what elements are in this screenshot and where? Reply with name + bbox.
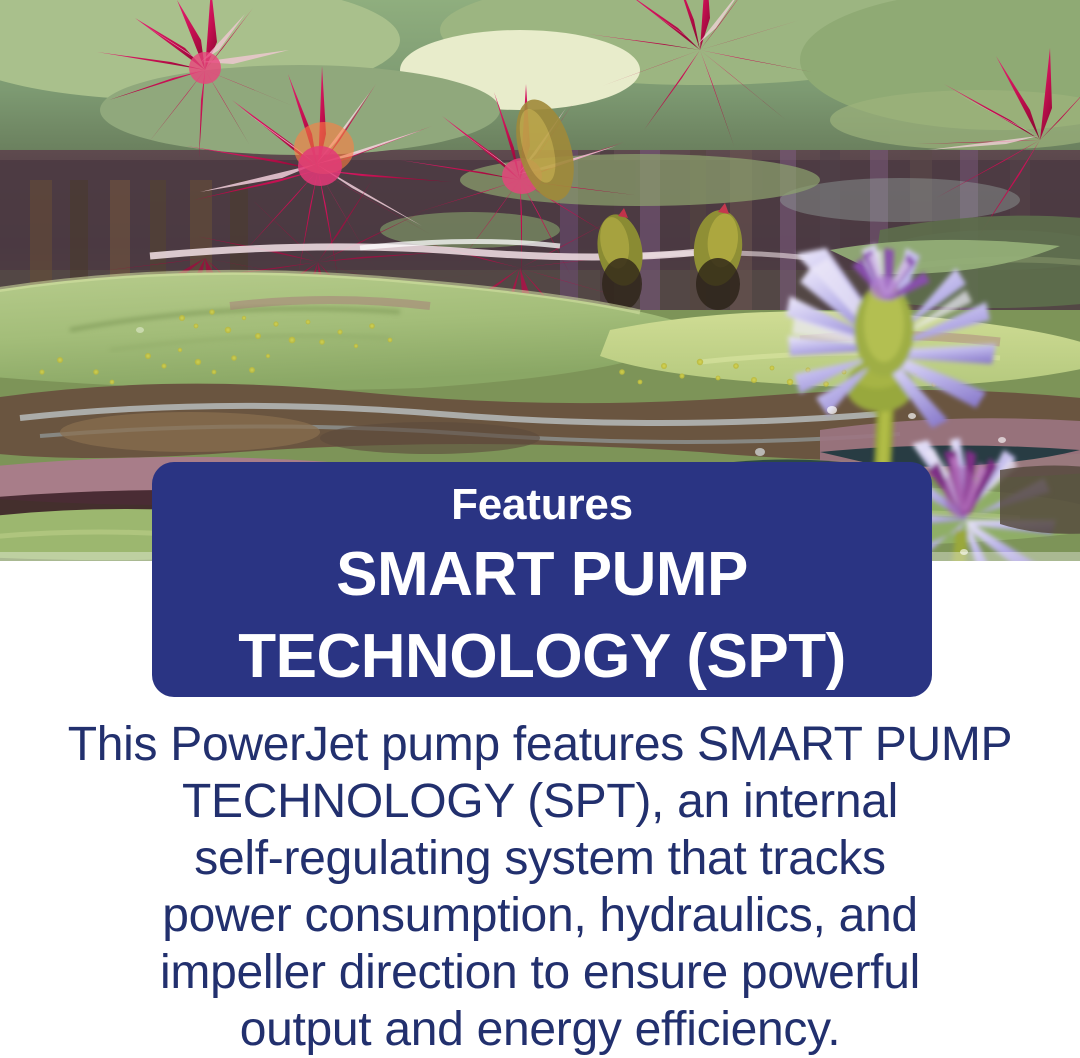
description-line: This PowerJet pump features SMART PUMP [40, 716, 1040, 773]
description-line: self-regulating system that tracks [40, 830, 1040, 887]
description-line: impeller direction to ensure powerful [40, 944, 1040, 1001]
feature-description: This PowerJet pump features SMART PUMP T… [40, 716, 1040, 1058]
banner-title-line-2: TECHNOLOGY (SPT) [164, 616, 920, 698]
product-feature-card: Features SMART PUMP TECHNOLOGY (SPT) Thi… [0, 0, 1080, 1058]
banner-title-line-1: SMART PUMP [164, 534, 920, 616]
description-line: output and energy efficiency. [40, 1001, 1040, 1058]
banner-eyebrow: Features [164, 476, 920, 534]
description-line: TECHNOLOGY (SPT), an internal [40, 773, 1040, 830]
features-banner: Features SMART PUMP TECHNOLOGY (SPT) [152, 462, 932, 697]
description-line: power consumption, hydraulics, and [40, 887, 1040, 944]
